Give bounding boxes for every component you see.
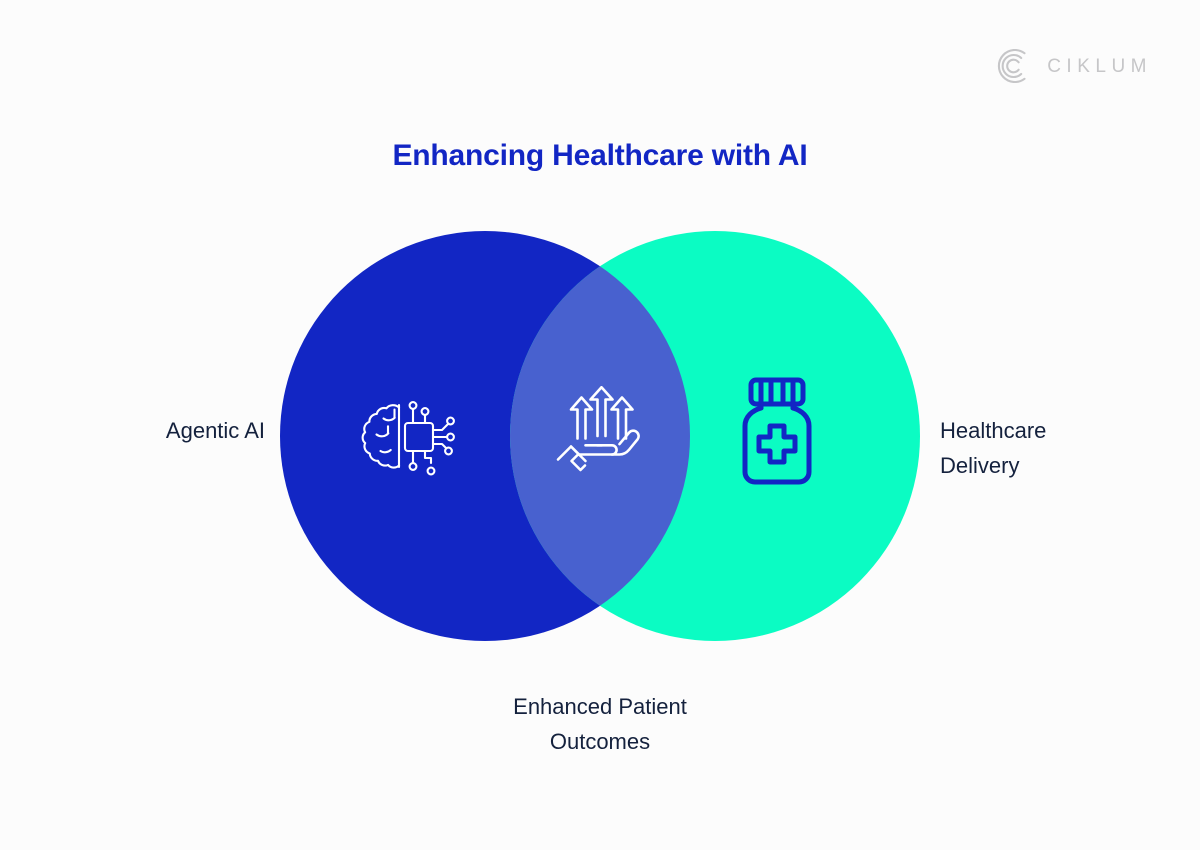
venn-diagram: [280, 231, 920, 641]
venn-label-right: Healthcare Delivery: [940, 414, 1145, 484]
page-title: Enhancing Healthcare with AI: [0, 138, 1200, 174]
venn-label-right-line2: Delivery: [940, 449, 1145, 484]
brand-logo: CIKLUM: [993, 46, 1152, 86]
venn-label-bottom-line2: Outcomes: [400, 725, 800, 760]
venn-label-bottom-line1: Enhanced Patient: [400, 690, 800, 725]
venn-label-left-line1: Agentic AI: [60, 414, 265, 449]
venn-label-bottom: Enhanced Patient Outcomes: [400, 690, 800, 760]
slide-canvas: CIKLUM Enhancing Healthcare with AI: [0, 0, 1200, 850]
brand-wordmark: CIKLUM: [1047, 57, 1152, 76]
ciklum-c-logo-icon: [993, 46, 1033, 86]
venn-label-right-line1: Healthcare: [940, 414, 1145, 449]
venn-label-left: Agentic AI: [60, 414, 265, 449]
